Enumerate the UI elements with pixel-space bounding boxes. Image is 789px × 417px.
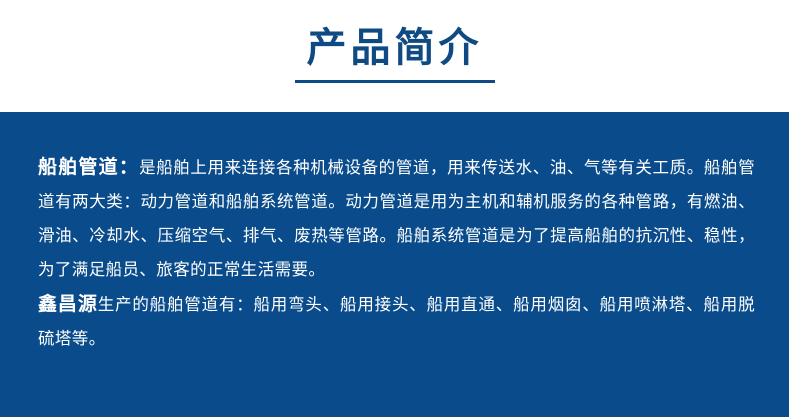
title-underline-divider [295,80,495,83]
paragraph-2-body-text: 生产的船舶管道有：船用弯头、船用接头、船用直通、船用烟囱、船用喷淋塔、船用脱硫塔… [38,295,755,348]
paragraph-1-lead-label: 船舶管道： [38,156,139,178]
intro-paragraph-2: 鑫昌源生产的船舶管道有：船用弯头、船用接头、船用直通、船用烟囱、船用喷淋塔、船用… [38,287,755,356]
page-title: 产品简介 [307,24,483,72]
intro-paragraph-1: 船舶管道：是船舶上用来连接各种机械设备的管道，用来传送水、油、气等有关工质。船舶… [38,150,755,287]
product-introduction-page: 产品简介 船舶管道：是船舶上用来连接各种机械设备的管道，用来传送水、油、气等有关… [0,0,789,417]
paragraph-1-body-text: 是船舶上用来连接各种机械设备的管道，用来传送水、油、气等有关工质。船舶管道有两大… [38,158,755,279]
intro-content-panel: 船舶管道：是船舶上用来连接各种机械设备的管道，用来传送水、油、气等有关工质。船舶… [0,112,789,417]
paragraph-2-brand-name: 鑫昌源 [38,293,98,315]
page-header: 产品简介 [0,0,789,112]
